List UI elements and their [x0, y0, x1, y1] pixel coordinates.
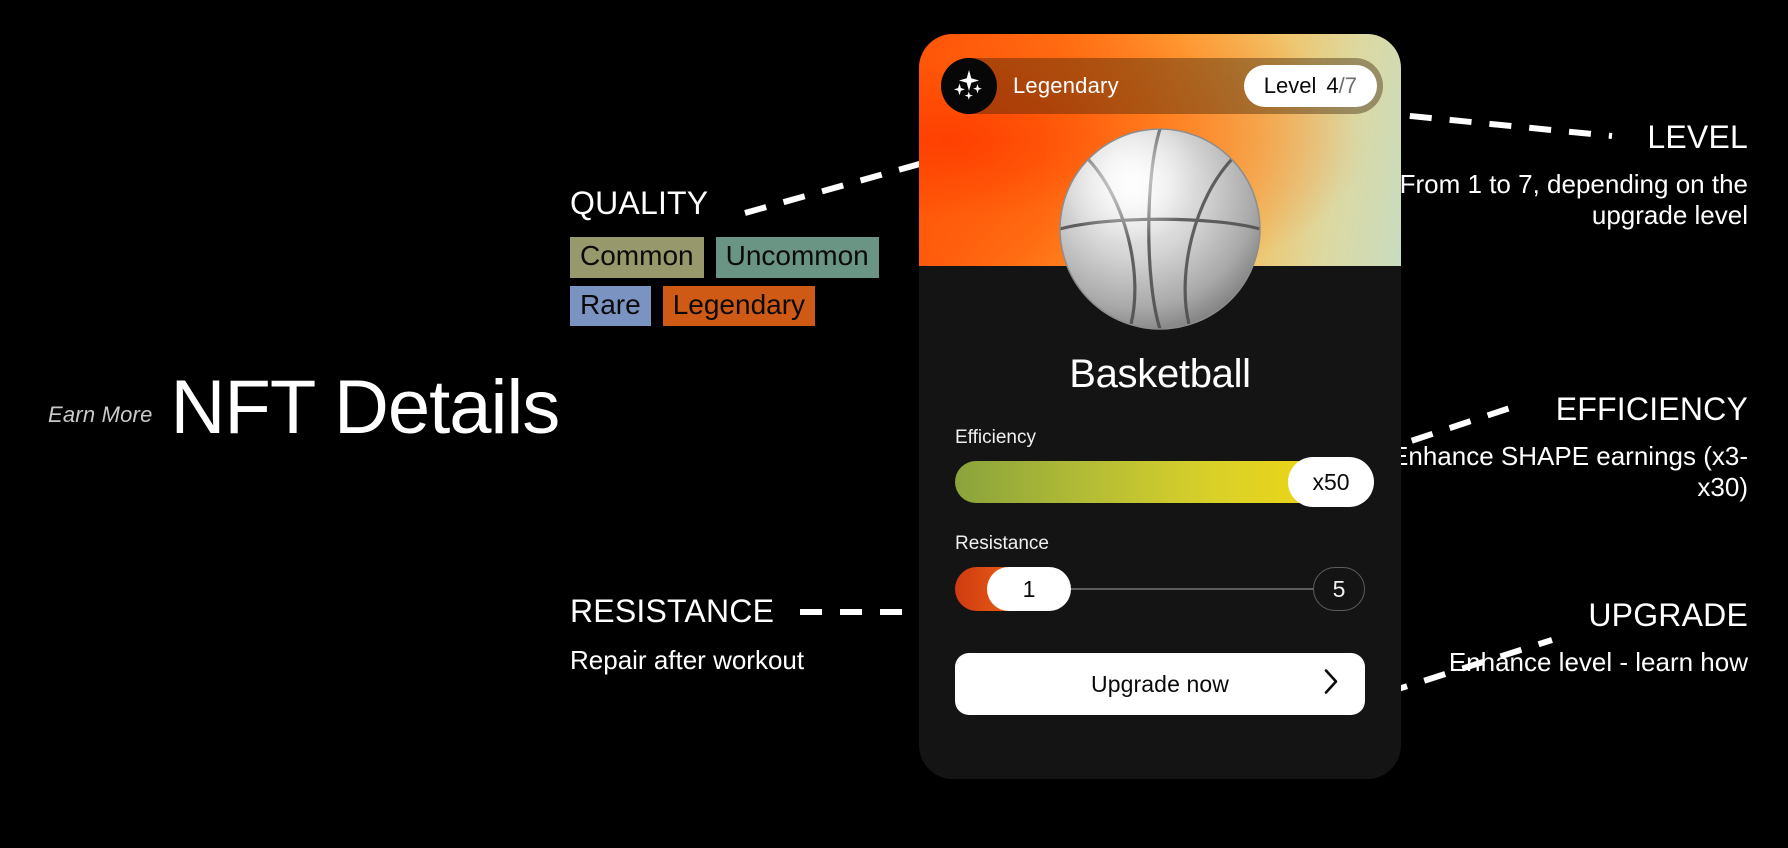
level-value: 4/7	[1326, 73, 1357, 99]
chevron-right-icon	[1324, 669, 1339, 700]
annotation-efficiency: EFFICIENCY Enhance SHAPE earnings (x3-x3…	[1348, 392, 1748, 503]
annotation-quality: QUALITY Common Uncommon Rare Legendary	[570, 186, 879, 334]
nft-item-name: Basketball	[955, 352, 1365, 397]
annotation-quality-title: QUALITY	[570, 186, 879, 221]
annotation-efficiency-body: Enhance SHAPE earnings (x3-x30)	[1348, 441, 1748, 502]
nft-card-body: Basketball Efficiency x50 Resistance 1 5…	[919, 352, 1401, 779]
efficiency-bar[interactable]: x50	[955, 461, 1365, 503]
level-word: Level	[1264, 73, 1317, 99]
annotation-resistance: RESISTANCE Repair after workout	[570, 594, 900, 676]
resistance-current-value[interactable]: 1	[987, 567, 1071, 611]
page-heading-group: Earn More NFT Details	[48, 370, 559, 446]
efficiency-value-badge: x50	[1288, 457, 1374, 507]
resistance-label: Resistance	[955, 533, 1365, 555]
rarity-label: Legendary	[1013, 73, 1119, 99]
annotation-efficiency-title: EFFICIENCY	[1348, 392, 1748, 427]
level-badge[interactable]: Level 4/7	[1244, 65, 1377, 107]
quality-chip-row: Common Uncommon	[570, 237, 879, 277]
page-title: NFT Details	[171, 370, 560, 446]
quality-chip-rare: Rare	[570, 286, 651, 326]
eyebrow-text: Earn More	[48, 402, 153, 446]
quality-chip-uncommon: Uncommon	[716, 237, 879, 277]
rarity-bar: Legendary Level 4/7	[941, 58, 1383, 114]
quality-chip-row: Rare Legendary	[570, 286, 879, 326]
resistance-slider[interactable]: 1 5	[955, 567, 1365, 611]
basketball-icon	[919, 126, 1401, 332]
annotation-upgrade-body: Enhance level - learn how	[1358, 647, 1748, 678]
nft-card: Legendary Level 4/7	[919, 34, 1401, 779]
upgrade-button-label: Upgrade now	[1091, 671, 1229, 698]
sparkles-icon	[941, 58, 997, 114]
upgrade-now-button[interactable]: Upgrade now	[955, 653, 1365, 715]
quality-chip-legendary: Legendary	[663, 286, 815, 326]
quality-chip-list: Common Uncommon Rare Legendary	[570, 237, 879, 326]
page-root: Earn More NFT Details QUALITY Common Unc…	[0, 0, 1788, 848]
level-max: 7	[1345, 73, 1357, 98]
annotation-resistance-title: RESISTANCE	[570, 594, 900, 629]
resistance-max-value: 5	[1313, 567, 1365, 611]
annotation-upgrade-title: UPGRADE	[1358, 598, 1748, 633]
annotation-upgrade: UPGRADE Enhance level - learn how	[1358, 598, 1748, 678]
nft-card-header: Legendary Level 4/7	[919, 34, 1401, 266]
annotation-resistance-body: Repair after workout	[570, 645, 900, 676]
level-current: 4	[1326, 73, 1338, 98]
quality-chip-common: Common	[570, 237, 704, 277]
efficiency-label: Efficiency	[955, 427, 1365, 449]
